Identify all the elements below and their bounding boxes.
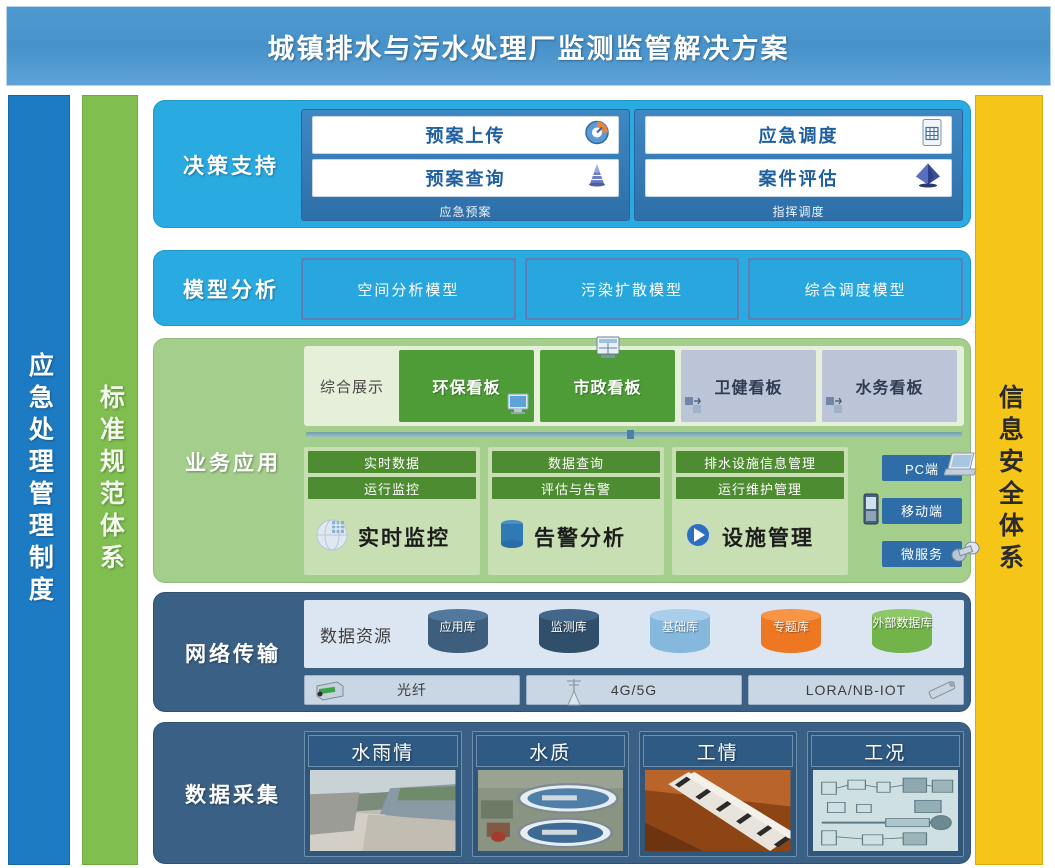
board-health-label: 卫健看板	[714, 374, 782, 398]
decision-item-emergency-dispatch[interactable]: 应急调度	[645, 116, 952, 154]
decision-group-command-caption: 指挥调度	[645, 202, 952, 220]
database-icon	[496, 516, 528, 559]
fiber-icon	[313, 678, 345, 707]
board-environment-label: 环保看板	[432, 374, 500, 398]
mobile-icon	[860, 492, 882, 531]
gauge-icon	[584, 120, 610, 151]
database-monitoring[interactable]: 监测库	[539, 609, 599, 659]
network-pipe-lora[interactable]: LORA/NB-IOT	[748, 675, 964, 705]
business-bar-operation-maintenance[interactable]: 运行维护管理	[676, 477, 844, 499]
business-bar-drainage-facility-info[interactable]: 排水设施信息管理	[676, 451, 844, 473]
scada-photo	[813, 770, 959, 851]
database-external-label: 外部数据库	[872, 617, 932, 630]
layer-business-application: 业务应用 综合展示 环保看板 市政看板	[153, 338, 971, 583]
title-bar: 城镇排水与污水处理厂监测监管解决方案	[6, 6, 1051, 86]
layer-network-transmission: 网络传输 数据资源 应用库 监测库 基础库	[153, 592, 971, 712]
business-feature-alarm-analysis[interactable]: 告警分析	[492, 503, 660, 571]
decision-group-command: 应急调度 案件评估	[634, 109, 963, 221]
layer-data-collection: 数据采集 水雨情 水质	[153, 722, 971, 864]
antenna-icon	[563, 676, 585, 711]
database-thematic[interactable]: 专题库	[761, 609, 821, 659]
play-icon	[680, 517, 716, 558]
network-pipe-cellular[interactable]: 4G/5G	[526, 675, 742, 705]
laptop-icon	[944, 451, 978, 484]
diamond-icon	[913, 163, 943, 194]
data-resources-caption: 数据资源	[310, 622, 402, 647]
layer-model-label: 模型分析	[162, 251, 300, 327]
board-water-affairs[interactable]: 水务看板	[822, 350, 957, 422]
decision-item-case-evaluation[interactable]: 案件评估	[645, 159, 952, 197]
monitor-icon	[506, 393, 530, 420]
layer-collect-label: 数据采集	[162, 723, 304, 865]
swap-icon	[684, 396, 702, 419]
network-pipe-fiber-label: 光纤	[397, 680, 427, 700]
database-application[interactable]: 应用库	[428, 609, 488, 659]
collect-card-project-status-label: 工情	[643, 735, 793, 767]
layer-business-label: 业务应用	[162, 339, 304, 584]
pyramid-icon	[584, 164, 610, 193]
sensor-icon	[925, 677, 959, 708]
decision-item-plan-upload-label: 预案上传	[426, 122, 506, 148]
database-external[interactable]: 外部数据库	[872, 609, 932, 659]
channel-microservice[interactable]: 微服务	[882, 541, 962, 567]
collect-card-hydrology-label: 水雨情	[308, 735, 458, 767]
model-item-pollution[interactable]: 污染扩散模型	[525, 258, 740, 320]
board-water-affairs-label: 水务看板	[855, 374, 923, 398]
globe-icon	[312, 515, 352, 560]
collect-card-hydrology[interactable]: 水雨情	[304, 731, 462, 857]
pillar-standard-label: 标准规范体系	[96, 384, 125, 576]
layer-decision-support: 决策支持 预案上传 预案查询	[153, 100, 971, 228]
channel-mobile-label: 移动端	[901, 501, 943, 520]
phone-icon	[950, 539, 980, 570]
collect-card-working-condition[interactable]: 工况	[807, 731, 965, 857]
business-feature-realtime-monitoring-label: 实时监控	[358, 522, 450, 552]
business-bar-assessment-alarm[interactable]: 评估与告警	[492, 477, 660, 499]
network-pipe-cellular-label: 4G/5G	[611, 682, 657, 698]
business-bar-data-query[interactable]: 数据查询	[492, 451, 660, 473]
swap-icon	[825, 396, 843, 419]
business-column-facility: 排水设施信息管理 运行维护管理 设施管理	[672, 447, 848, 575]
network-pipe-fiber[interactable]: 光纤	[304, 675, 520, 705]
business-feature-realtime-monitoring[interactable]: 实时监控	[308, 503, 476, 571]
business-column-monitoring: 实时数据 运行监控	[304, 447, 480, 575]
model-item-spatial[interactable]: 空间分析模型	[301, 258, 516, 320]
business-feature-facility-management-label: 设施管理	[722, 522, 814, 552]
comprehensive-display-caption: 综合展示	[308, 350, 396, 422]
board-environment[interactable]: 环保看板	[399, 350, 534, 422]
layer-decision-label: 决策支持	[162, 101, 300, 229]
decision-group-plan-caption: 应急预案	[312, 202, 619, 220]
decision-item-emergency-dispatch-label: 应急调度	[759, 122, 839, 148]
database-monitoring-label: 监测库	[539, 621, 599, 634]
business-feature-facility-management[interactable]: 设施管理	[676, 503, 844, 571]
channel-mobile[interactable]: 移动端	[882, 498, 962, 524]
business-divider	[306, 432, 962, 437]
database-application-label: 应用库	[428, 621, 488, 634]
divider-knob	[627, 430, 634, 439]
layer-network-label: 网络传输	[162, 593, 304, 713]
pillar-information-security: 信息安全体系	[975, 95, 1043, 865]
pillar-standard-system: 标准规范体系	[82, 95, 138, 865]
layer-model-analysis: 模型分析 空间分析模型 污染扩散模型 综合调度模型	[153, 250, 971, 326]
data-resources-bar: 数据资源 应用库 监测库 基础库	[304, 600, 964, 668]
architecture-diagram: 城镇排水与污水处理厂监测监管解决方案 应急处理管理制度 标准规范体系 信息安全体…	[0, 0, 1055, 868]
canal-photo	[310, 770, 456, 851]
database-basic-label: 基础库	[650, 621, 710, 634]
model-item-dispatch[interactable]: 综合调度模型	[748, 258, 963, 320]
comprehensive-display-bar: 综合展示 环保看板 市政看板	[304, 346, 964, 426]
pillar-security-label: 信息安全体系	[995, 384, 1024, 576]
channel-microservice-label: 微服务	[901, 544, 943, 563]
database-basic[interactable]: 基础库	[650, 609, 710, 659]
pillar-emergency-management: 应急处理管理制度	[8, 95, 70, 865]
channel-pc-label: PC端	[905, 459, 939, 478]
collect-card-project-status[interactable]: 工情	[639, 731, 797, 857]
decision-item-case-evaluation-label: 案件评估	[759, 165, 839, 191]
database-thematic-label: 专题库	[761, 621, 821, 634]
decision-item-plan-query-label: 预案查询	[426, 165, 506, 191]
network-pipe-lora-label: LORA/NB-IOT	[806, 682, 906, 698]
collect-card-water-quality-label: 水质	[476, 735, 626, 767]
board-municipal-label: 市政看板	[573, 374, 641, 398]
business-feature-alarm-analysis-label: 告警分析	[534, 522, 626, 552]
page-title: 城镇排水与污水处理厂监测监管解决方案	[268, 27, 790, 66]
business-bar-operation-monitor[interactable]: 运行监控	[308, 477, 476, 499]
channel-pc[interactable]: PC端	[882, 455, 962, 481]
decision-item-plan-upload[interactable]: 预案上传	[312, 116, 619, 154]
business-bar-realtime-data[interactable]: 实时数据	[308, 451, 476, 473]
pipeline-photo	[645, 770, 791, 851]
business-column-query: 数据查询 评估与告警 告警分析	[488, 447, 664, 575]
clarifier-photo	[478, 770, 624, 851]
calculator-icon	[921, 119, 943, 152]
decision-group-plan: 预案上传 预案查询	[301, 109, 630, 221]
collect-card-working-condition-label: 工况	[811, 735, 961, 767]
collect-card-water-quality[interactable]: 水质	[472, 731, 630, 857]
decision-item-plan-query[interactable]: 预案查询	[312, 159, 619, 197]
board-municipal[interactable]: 市政看板	[540, 350, 675, 422]
window-icon	[595, 336, 621, 365]
board-health[interactable]: 卫健看板	[681, 350, 816, 422]
pillar-emergency-label: 应急处理管理制度	[25, 352, 54, 608]
